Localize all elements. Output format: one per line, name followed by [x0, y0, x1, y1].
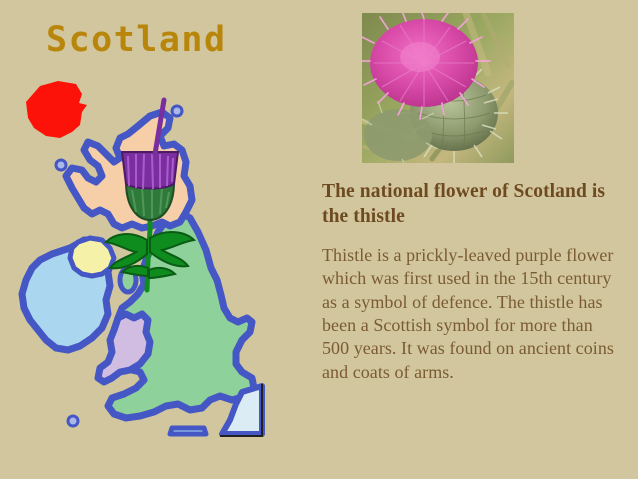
body-paragraph: Thistle is a prickly-leaved purple flowe… — [322, 244, 622, 384]
map-island-dot-2 — [56, 160, 66, 170]
body-heading: The national flower of Scotland is the t… — [322, 180, 622, 230]
british-isles-map — [14, 90, 304, 479]
text-column: The national flower of Scotland is the t… — [322, 180, 622, 384]
thistle-photograph — [362, 13, 514, 163]
map-island-dot-3 — [68, 416, 78, 426]
map-channel-strip — [170, 428, 206, 434]
thistle-photo-svg — [362, 13, 514, 163]
page-title: Scotland — [46, 21, 227, 60]
map-island-dot-1 — [172, 106, 182, 116]
slide-canvas: Scotland — [0, 0, 638, 479]
map-region-northern-ireland — [70, 238, 114, 276]
map-svg — [14, 90, 304, 479]
